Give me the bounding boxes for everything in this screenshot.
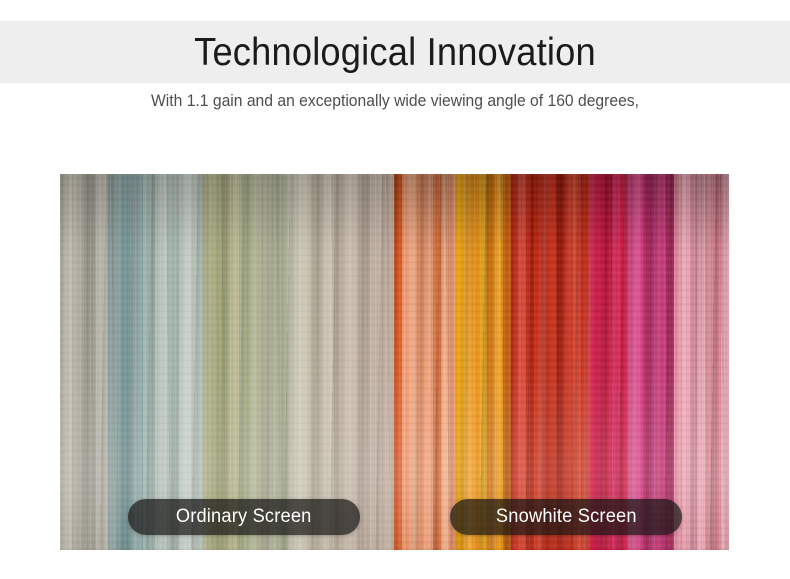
page-subtitle: With 1.1 gain and an exceptionally wide … — [20, 92, 771, 111]
snowhite-screen-panel — [394, 174, 729, 550]
ordinary-screen-panel — [60, 174, 394, 550]
fabric-shading-overlay — [394, 174, 729, 550]
ordinary-fabric-texture — [60, 174, 394, 550]
ordinary-screen-label-pill: Ordinary Screen — [128, 499, 360, 535]
ordinary-screen-label: Ordinary Screen — [176, 506, 312, 528]
header-band: Technological Innovation — [0, 21, 790, 83]
ordinary-desaturation-haze — [60, 174, 394, 550]
snowhite-fabric-texture — [394, 174, 729, 550]
snowhite-screen-label: Snowhite Screen — [496, 506, 637, 528]
screen-comparison-image — [60, 174, 729, 550]
snowhite-screen-label-pill: Snowhite Screen — [450, 499, 682, 535]
page-title: Technological Innovation — [194, 33, 596, 72]
